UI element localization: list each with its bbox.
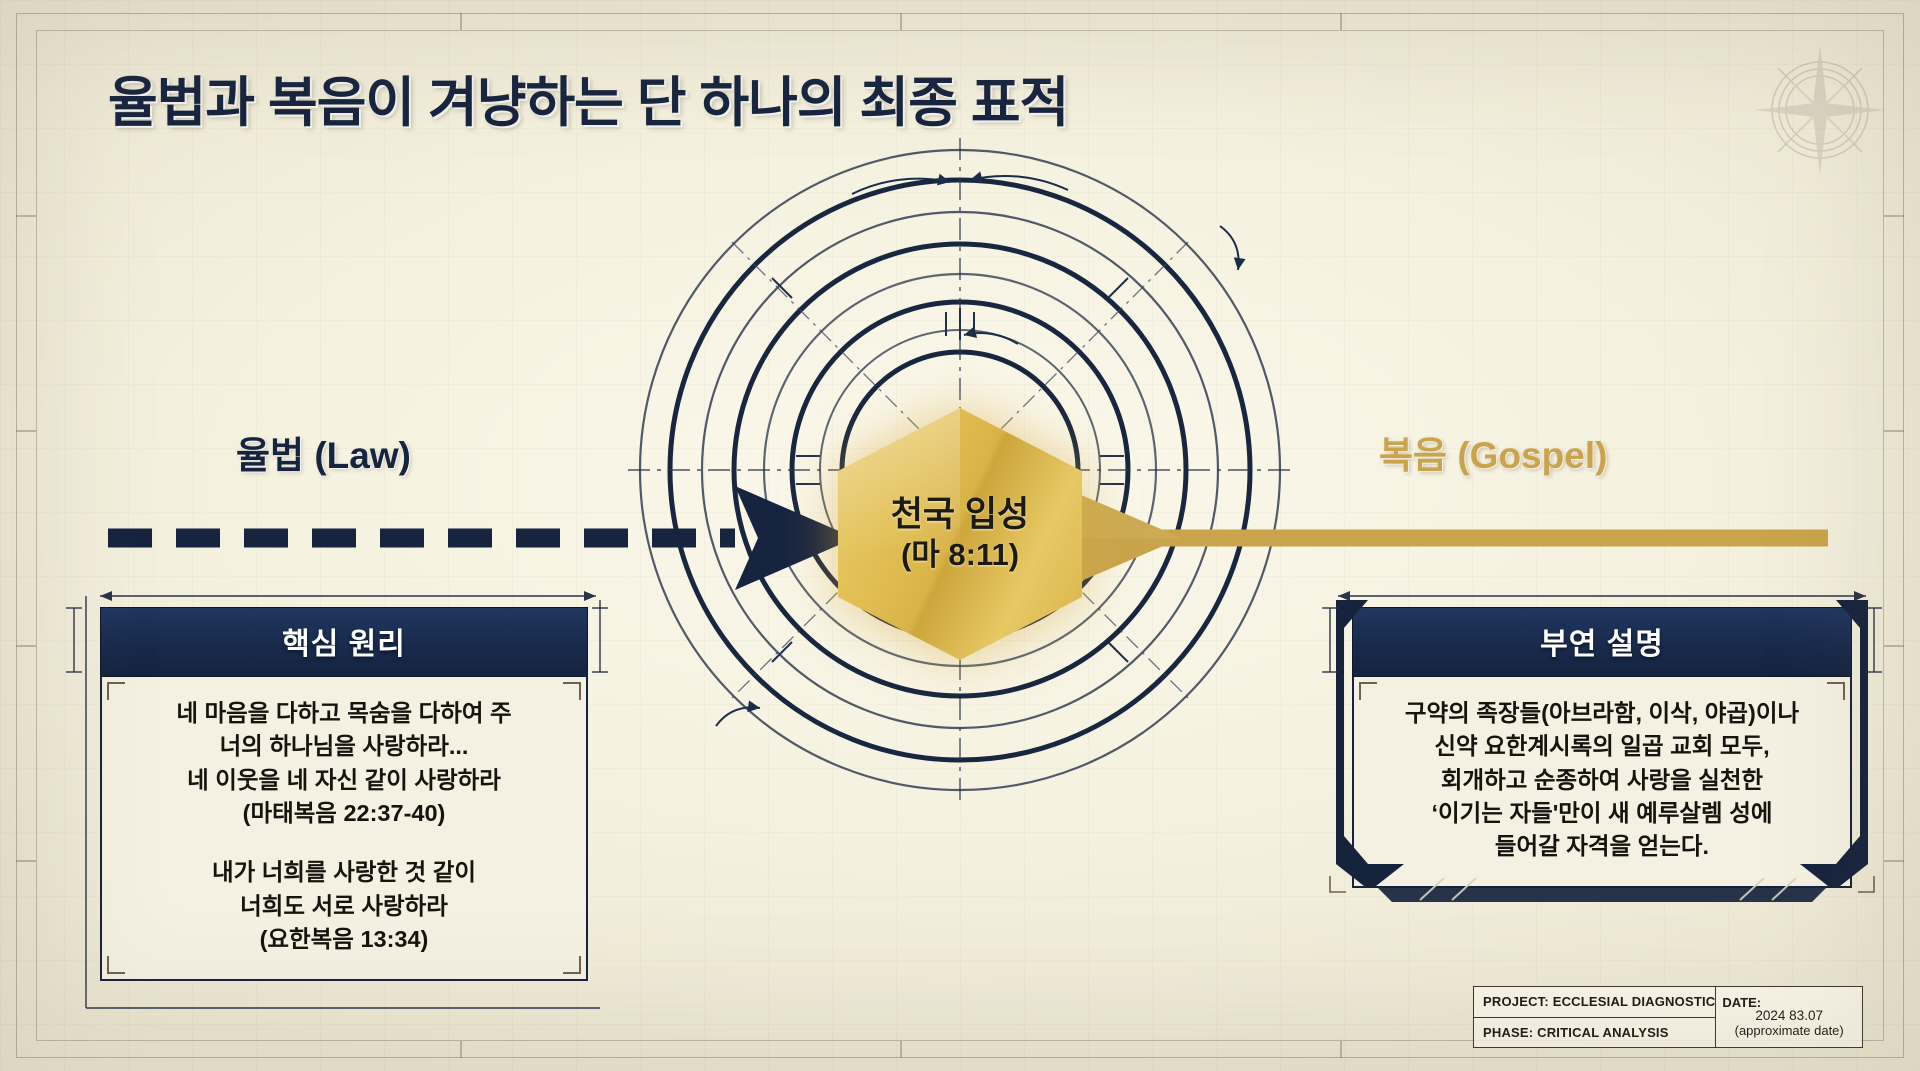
hexagon-shape	[838, 408, 1082, 660]
supplementary-explanation-body: 구약의 족장들(아브라함, 이삭, 야곱)이나신약 요한계시록의 일곱 교회 모…	[1352, 677, 1852, 888]
title-block-left: PROJECT: ECCLESIAL DIAGNOSTIC PHASE: CRI…	[1474, 987, 1715, 1047]
gospel-label: 복음 (Gospel)	[1379, 425, 1607, 479]
core-principle-box: 핵심 원리 네 마음을 다하고 목숨을 다하여 주너의 하나님을 사랑하라...…	[100, 607, 588, 981]
corner-bracket-icon	[1359, 863, 1377, 881]
date-note: (approximate date)	[1722, 1023, 1856, 1038]
core-principle-paragraph: 내가 너희를 사랑한 것 같이너희도 서로 사랑하라(요한복음 13:34)	[120, 856, 568, 956]
core-principle-paragraph: 네 마음을 다하고 목숨을 다하여 주너의 하나님을 사랑하라...네 이웃을 …	[120, 697, 568, 830]
page-title: 율법과 복음이 겨냥하는 단 하나의 최종 표적	[108, 58, 1068, 137]
drawing-title-block: PROJECT: ECCLESIAL DIAGNOSTIC PHASE: CRI…	[1473, 986, 1863, 1048]
title-block-date: DATE: 2024 83.07 (approximate date)	[1715, 987, 1862, 1047]
corner-bracket-icon	[107, 956, 125, 974]
phase-label: PHASE: CRITICAL ANALYSIS	[1474, 1018, 1715, 1048]
supplementary-explanation-paragraph: 구약의 족장들(아브라함, 이삭, 야곱)이나신약 요한계시록의 일곱 교회 모…	[1372, 697, 1832, 864]
law-label: 율법 (Law)	[236, 425, 411, 479]
date-value: 2024 83.07	[1722, 1008, 1856, 1023]
supplementary-explanation-header: 부연 설명	[1352, 607, 1852, 677]
core-principle-body: 네 마음을 다하고 목숨을 다하여 주너의 하나님을 사랑하라...네 이웃을 …	[100, 677, 588, 981]
core-principle-header: 핵심 원리	[100, 607, 588, 677]
supplementary-explanation-box: 부연 설명 구약의 족장들(아브라함, 이삭, 야곱)이나신약 요한계시록의 일…	[1352, 607, 1852, 888]
project-label: PROJECT: ECCLESIAL DIAGNOSTIC	[1474, 987, 1715, 1018]
corner-bracket-icon	[563, 956, 581, 974]
central-goal-hexagon: 천국 입성 (마 8:11)	[838, 408, 1082, 660]
corner-bracket-icon	[1827, 863, 1845, 881]
